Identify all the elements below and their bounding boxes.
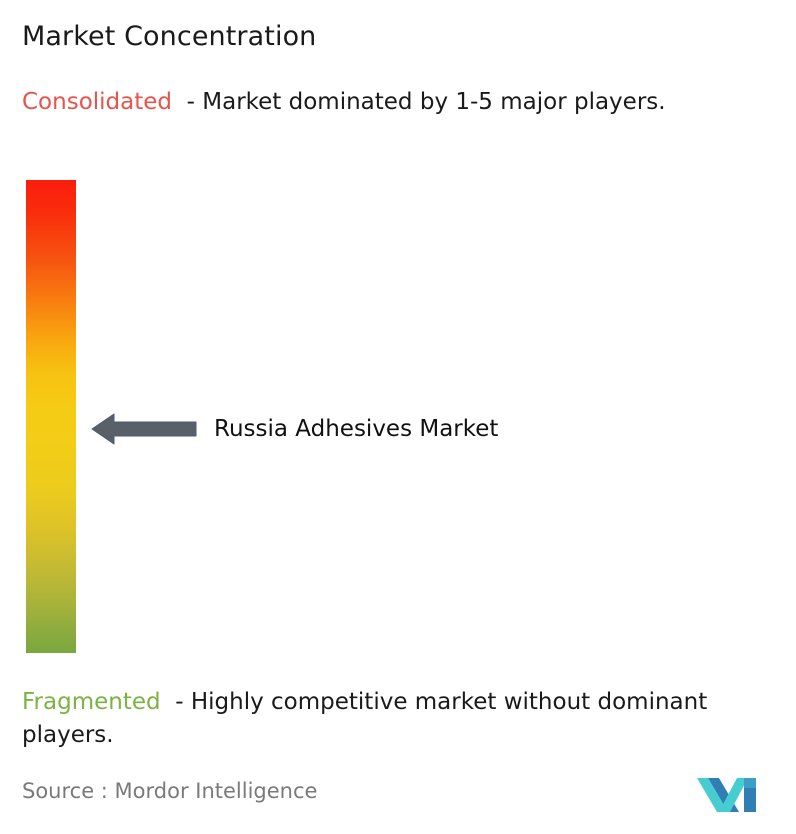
- legend-fragmented-keyword: Fragmented: [22, 689, 161, 715]
- footer: Source : Mordor Intelligence: [0, 774, 796, 826]
- arrow-left-icon: [90, 410, 198, 448]
- source-attribution: Source : Mordor Intelligence: [22, 776, 317, 806]
- legend-consolidated-description: - Market dominated by 1-5 major players.: [187, 89, 666, 115]
- gradient-fill: [26, 180, 76, 653]
- concentration-scale-bar: [26, 180, 76, 653]
- market-marker: Russia Adhesives Market: [90, 409, 498, 449]
- page-title: Market Concentration: [22, 20, 316, 54]
- market-marker-label: Russia Adhesives Market: [214, 415, 498, 443]
- legend-fragmented: Fragmented - Highly competitive market w…: [22, 686, 782, 752]
- mordor-intelligence-logo-icon: [697, 774, 759, 816]
- legend-consolidated: Consolidated - Market dominated by 1-5 m…: [22, 86, 762, 119]
- market-concentration-chart: Market Concentration Consolidated - Mark…: [0, 0, 796, 834]
- legend-consolidated-keyword: Consolidated: [22, 89, 172, 115]
